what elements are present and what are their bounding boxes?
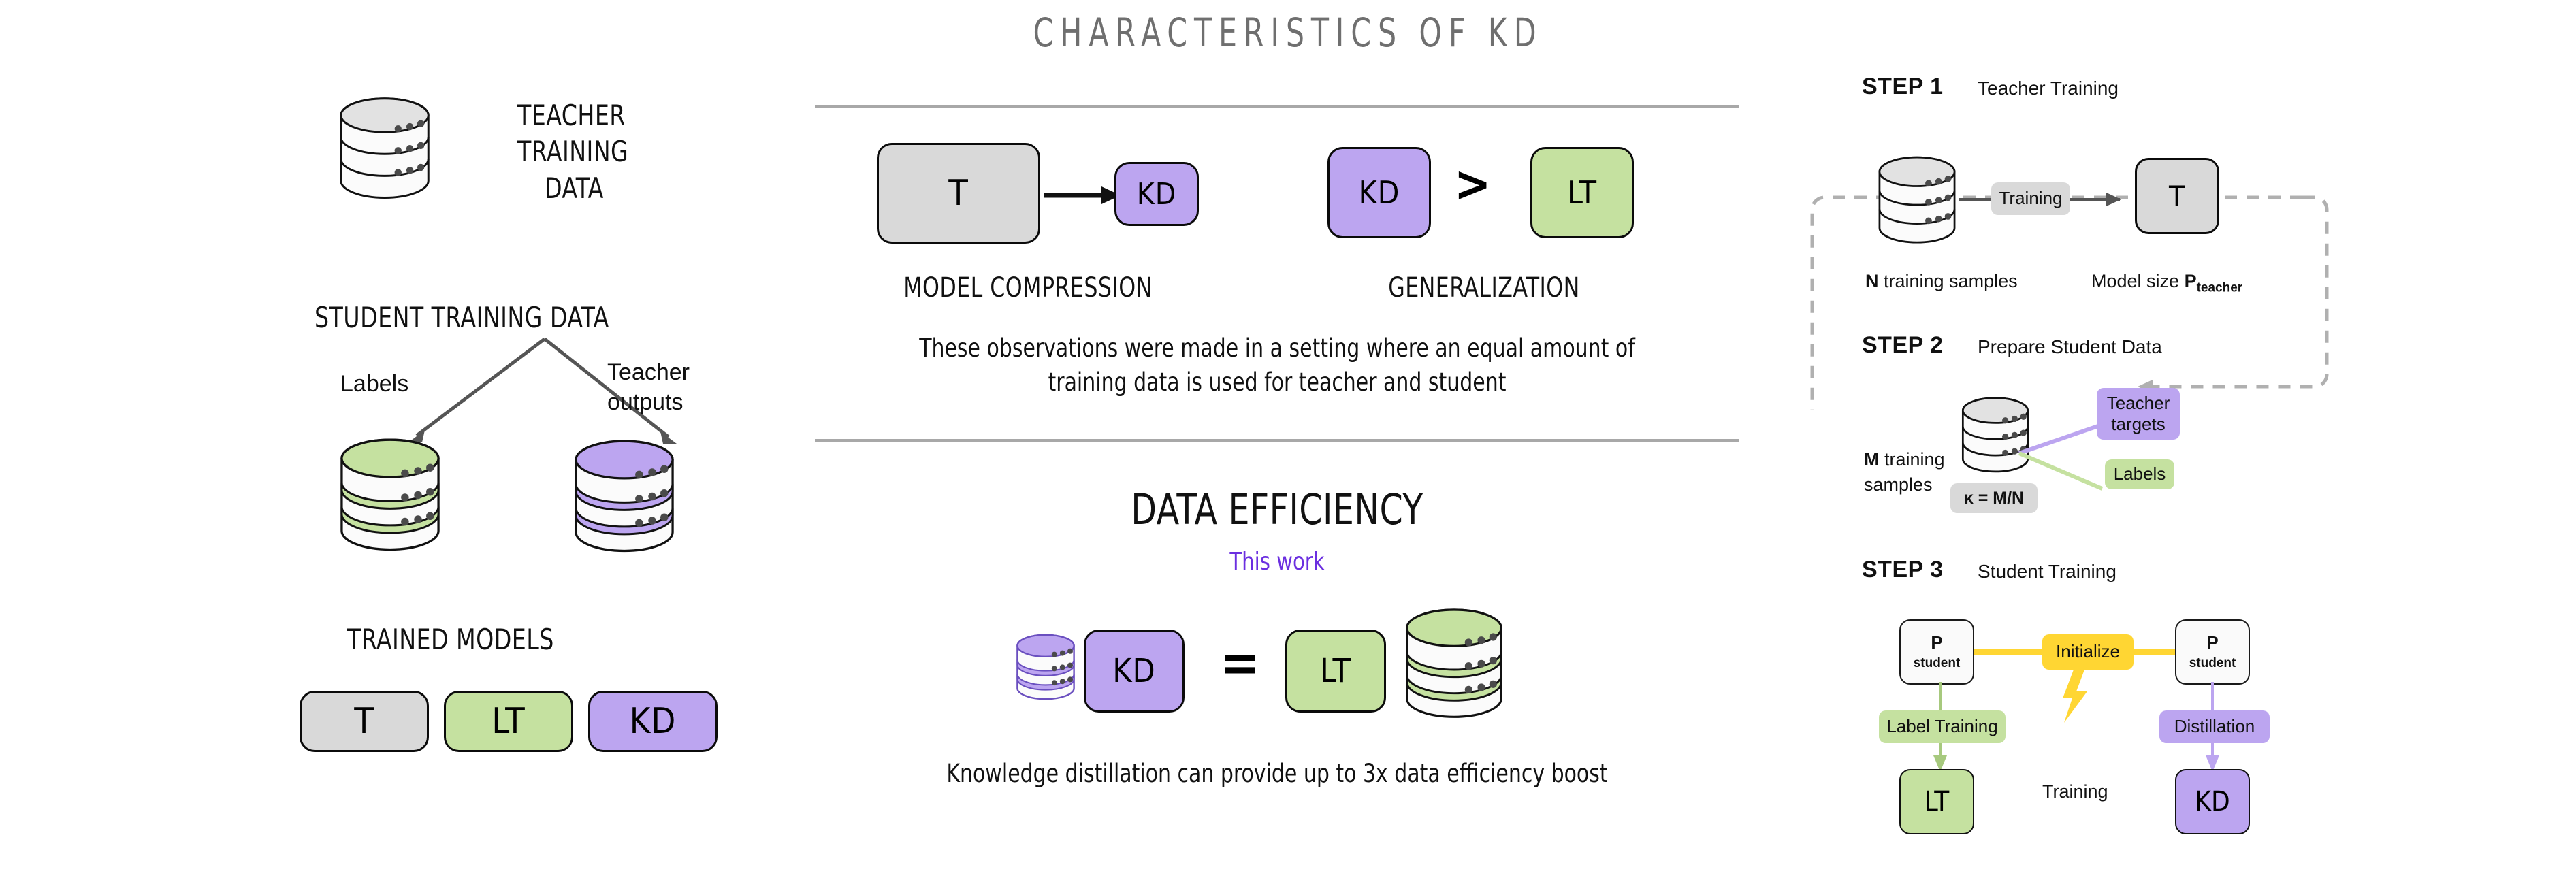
database-icon-small-purple	[1009, 632, 1082, 713]
step3-number: STEP 3	[1862, 557, 1944, 583]
step1-number: STEP 1	[1862, 73, 1944, 100]
trained-models-title: TRAINED MODELS	[347, 623, 554, 656]
step1-label: Teacher Training	[1978, 78, 2119, 99]
database-icon-labels	[332, 434, 448, 574]
step3-distillation-tag: Distillation	[2159, 710, 2270, 743]
step3-kd-pill[interactable]: KD	[2175, 769, 2250, 834]
model-pill-lt[interactable]: LT	[444, 691, 573, 752]
step1-samples-caption: N training samples	[1865, 271, 2018, 292]
compression-kd-pill[interactable]: KD	[1114, 162, 1199, 226]
compression-teacher-pill[interactable]: T	[877, 143, 1040, 244]
step3-lt-pill[interactable]: LT	[1899, 769, 1974, 834]
equation-lt-pill[interactable]: LT	[1285, 630, 1386, 713]
divider-bottom	[815, 439, 1739, 442]
step1-model-size-caption: Model size Pteacher	[2091, 271, 2242, 295]
step2-samples-rest: training	[1880, 449, 1945, 470]
step3-label-training-tag: Label Training	[1879, 710, 2006, 743]
step1-model-size-prefix: Model size	[2091, 271, 2185, 291]
step3-p-student-left[interactable]: P student	[1899, 619, 1974, 685]
teacher-outputs-caption-line1: Teacher	[607, 359, 690, 386]
labels-caption: Labels	[340, 371, 408, 397]
observation-line-2: training data is used for teacher and st…	[861, 367, 1693, 397]
step1-training-tag: Training	[1991, 182, 2070, 215]
teacher-data-label-line1: TEACHER	[517, 99, 626, 132]
teacher-outputs-caption-line2: outputs	[607, 389, 683, 416]
step2-samples-caption-line2: samples	[1864, 474, 1933, 495]
greater-than-operator: >	[1454, 155, 1491, 212]
step3-training-caption: Training	[2042, 781, 2108, 802]
step3-initialize-tag: Initialize	[2042, 634, 2134, 670]
model-pill-kd[interactable]: KD	[588, 691, 718, 752]
generalization-label: GENERALIZATION	[1317, 272, 1652, 304]
observation-line-1: These observations were made in a settin…	[861, 333, 1693, 363]
teacher-targets-line2: targets	[2111, 414, 2166, 434]
step1-model-size-p: P	[2185, 271, 2197, 291]
step1-samples-rest: training samples	[1879, 271, 2018, 291]
step2-samples-bold: M	[1864, 449, 1880, 470]
this-work-label: This work	[861, 548, 1693, 576]
teacher-data-label-line2: TRAINING	[517, 135, 628, 168]
student-section-title: STUDENT TRAINING DATA	[315, 301, 609, 334]
conclusion-text: Knowledge distillation can provide up to…	[861, 759, 1693, 788]
teacher-data-label-line3: DATA	[545, 171, 604, 205]
p-right-sub: student	[2189, 656, 2236, 670]
database-icon-large-green	[1397, 604, 1511, 740]
divider-top	[815, 105, 1739, 108]
step2-number: STEP 2	[1862, 332, 1944, 359]
p-right-main: P	[2206, 632, 2218, 653]
step3-label: Student Training	[1978, 561, 2116, 583]
p-left-sub: student	[1914, 656, 1961, 670]
teacher-targets-line1: Teacher	[2107, 393, 2170, 413]
database-icon-step1	[1869, 143, 1965, 265]
generalization-kd-pill[interactable]: KD	[1327, 147, 1431, 238]
step1-samples-bold: N	[1865, 271, 1879, 291]
compression-arrow	[1044, 185, 1126, 206]
page-title: CHARACTERISTICS OF KD	[232, 10, 2345, 56]
equals-operator: =	[1220, 633, 1260, 694]
step1-model-size-sub: teacher	[2197, 280, 2243, 295]
model-compression-label: MODEL COMPRESSION	[860, 272, 1196, 304]
equation-kd-pill[interactable]: KD	[1084, 630, 1185, 713]
step2-kappa-badge: κ = M/N	[1950, 483, 2038, 513]
p-left-main: P	[1931, 632, 1942, 653]
step2-labels-tag: Labels	[2105, 459, 2174, 489]
database-icon-teacher-outputs	[566, 436, 682, 575]
step3-p-student-right[interactable]: P student	[2175, 619, 2250, 685]
step2-label: Prepare Student Data	[1978, 336, 2162, 358]
step2-teacher-targets-tag: Teacher targets	[2097, 388, 2180, 440]
model-pill-t[interactable]: T	[300, 691, 429, 752]
step1-teacher-box[interactable]: T	[2135, 158, 2219, 234]
step2-samples-caption-line1: M training	[1864, 449, 1945, 470]
data-efficiency-title: DATA EFFICIENCY	[870, 485, 1684, 534]
database-icon-teacher	[327, 82, 442, 225]
generalization-lt-pill[interactable]: LT	[1530, 147, 1634, 238]
